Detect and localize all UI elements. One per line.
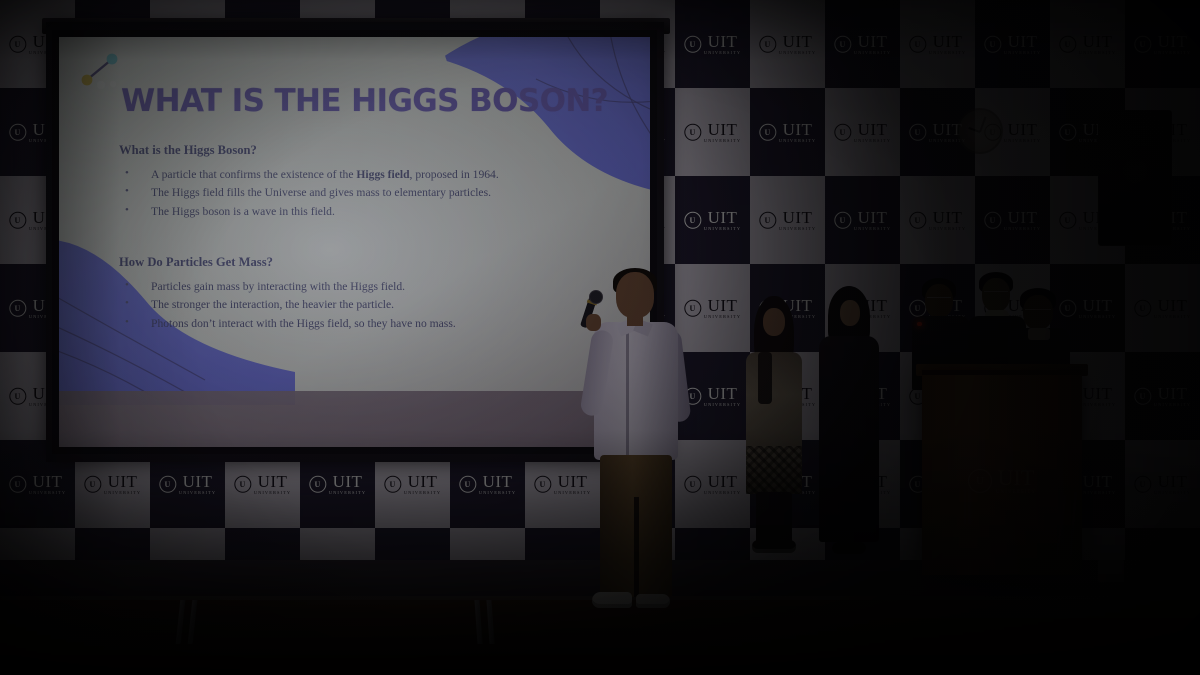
- backdrop-tile: UUITUNIVERSITY: [750, 0, 825, 88]
- backdrop-tile: UUITUNIVERSITY: [1125, 0, 1200, 88]
- uit-logo-subtext: UNIVERSITY: [1004, 51, 1041, 55]
- uit-logo-text: UIT: [1008, 33, 1038, 50]
- uit-logo-text: UIT: [1083, 473, 1113, 490]
- uit-logo: UUITUNIVERSITY: [759, 209, 816, 231]
- uit-logo: UUITUNIVERSITY: [159, 473, 216, 495]
- uit-logo-subtext: UNIVERSITY: [479, 491, 516, 495]
- backdrop-tile: UUITUNIVERSITY: [750, 176, 825, 264]
- slide-bottom-shadow-band: [59, 391, 650, 447]
- uit-logo: UUITUNIVERSITY: [759, 121, 816, 143]
- backdrop-tile: UUITUNIVERSITY: [825, 0, 900, 88]
- uit-logo-subtext: UNIVERSITY: [779, 139, 816, 143]
- uit-logo-text: UIT: [1158, 385, 1188, 402]
- bullet-text-pre: Particles gain mass by interacting with …: [151, 280, 405, 293]
- uit-circle-mark-icon: U: [9, 124, 26, 141]
- uit-circle-mark-icon: U: [968, 469, 992, 493]
- uit-logo: UUITUNIVERSITY: [984, 209, 1041, 231]
- uit-circle-mark-icon: U: [1134, 476, 1151, 493]
- uit-logo-subtext: UNIVERSITY: [1154, 403, 1191, 407]
- presentation-slide: WHAT IS THE HIGGS BOSON? What is the Hig…: [59, 37, 650, 447]
- slide-bullet-list: A particle that confirms the existence o…: [123, 166, 624, 221]
- uit-logo-subtext: UNIVERSITY: [329, 491, 366, 495]
- backdrop-tile: UUITUNIVERSITY: [975, 0, 1050, 88]
- equipment-led-indicator: [917, 322, 922, 326]
- uit-logo-subtext: UNIVERSITY: [104, 491, 141, 495]
- uit-circle-mark-icon: U: [834, 36, 851, 53]
- uit-circle-mark-icon: U: [1059, 124, 1076, 141]
- backdrop-tile: UUITUNIVERSITY: [900, 176, 975, 264]
- uit-logo-text: UIT: [1158, 33, 1188, 50]
- uit-logo: UUITUNIVERSITY: [234, 473, 291, 495]
- uit-logo-text: UIT: [783, 121, 813, 138]
- uit-circle-mark-icon: U: [1059, 36, 1076, 53]
- uit-logo-subtext: UNIVERSITY: [1154, 491, 1191, 495]
- uit-circle-mark-icon: U: [234, 476, 251, 493]
- uit-logo-text: UIT: [858, 209, 888, 226]
- slide-bullet: The Higgs boson is a wave in this field.: [123, 203, 624, 221]
- uit-circle-mark-icon: U: [384, 476, 401, 493]
- bullet-text-pre: Photons don’t interact with the Higgs fi…: [151, 317, 456, 330]
- uit-circle-mark-icon: U: [984, 212, 1001, 229]
- uit-circle-mark-icon: U: [1059, 212, 1076, 229]
- backdrop-tile: UUITUNIVERSITY: [1050, 0, 1125, 88]
- uit-logo-subtext: UNIVERSITY: [929, 227, 966, 231]
- uit-logo-text: UIT: [783, 33, 813, 50]
- uit-logo-subtext: UNIVERSITY: [779, 51, 816, 55]
- uit-logo: UUITUNIVERSITY: [684, 209, 741, 231]
- uit-logo-text: UIT: [408, 473, 438, 490]
- uit-logo-text: UIT: [1083, 33, 1113, 50]
- uit-logo-subtext: UNIVERSITY: [854, 139, 891, 143]
- backdrop-tile: UUITUNIVERSITY: [975, 176, 1050, 264]
- uit-logo-subtext: UNIVERSITY: [704, 491, 741, 495]
- uit-logo-text: UIT: [858, 121, 888, 138]
- uit-logo: UUITUNIVERSITY: [834, 209, 891, 231]
- uit-logo: UUITUNIVERSITY: [309, 473, 366, 495]
- uit-logo-subtext: UNIVERSITY: [1154, 315, 1191, 319]
- uit-logo-text: UIT: [33, 473, 63, 490]
- uit-logo-text: UIT: [1158, 297, 1188, 314]
- uit-logo: UUITUNIVERSITY: [684, 33, 741, 55]
- bullet-text-bold: Higgs field: [356, 168, 409, 181]
- uit-circle-mark-icon: U: [84, 476, 101, 493]
- slide-section-heading: What is the Higgs Boson?: [119, 143, 624, 158]
- uit-logo-subtext: UNIVERSITY: [179, 491, 216, 495]
- backdrop-tile: UUITUNIVERSITY: [675, 0, 750, 88]
- uit-circle-mark-icon: U: [759, 212, 776, 229]
- uit-circle-mark-icon: U: [909, 212, 926, 229]
- particle-link-icon: [79, 51, 125, 91]
- uit-circle-mark-icon: U: [834, 212, 851, 229]
- bullet-text-pre: A particle that confirms the existence o…: [151, 168, 356, 181]
- uit-logo-subtext: UNIVERSITY: [1079, 403, 1116, 407]
- microphone-capsule: [589, 290, 603, 304]
- backdrop-tile: UUITUNIVERSITY: [750, 88, 825, 176]
- uit-logo-subtext: UNIVERSITY: [1154, 51, 1191, 55]
- uit-logo-subtext: UNIVERSITY: [704, 227, 741, 231]
- uit-logo: UUITUNIVERSITY: [1134, 385, 1191, 407]
- backdrop-tile: UUITUNIVERSITY: [1125, 264, 1200, 352]
- uit-logo-subtext: UNIVERSITY: [704, 139, 741, 143]
- woman-in-embroidered-kurta: [742, 296, 806, 558]
- uit-logo: UUITUNIVERSITY: [1059, 33, 1116, 55]
- uit-circle-mark-icon: U: [1134, 388, 1151, 405]
- slide-body: What is the Higgs Boson? A particle that…: [119, 143, 624, 333]
- uit-logo-text: UIT: [258, 473, 288, 490]
- uit-logo-text: UIT: [708, 121, 738, 138]
- uit-logo-subtext: UNIVERSITY: [29, 491, 66, 495]
- uit-logo-subtext: UNIVERSITY: [704, 51, 741, 55]
- uit-logo-text: UIT: [108, 473, 138, 490]
- uit-circle-mark-icon: U: [9, 36, 26, 53]
- uit-logo: UUITUNIVERSITY: [9, 473, 66, 495]
- uit-logo: UUITUNIVERSITY: [834, 121, 891, 143]
- uit-circle-mark-icon: U: [834, 124, 851, 141]
- uit-circle-mark-icon: U: [459, 476, 476, 493]
- uit-logo: UUITUNIVERSITY: [684, 121, 741, 143]
- uit-logo-subtext: UNIVERSITY: [1079, 315, 1116, 319]
- slide-bullet: The stronger the interaction, the heavie…: [123, 296, 624, 314]
- presenter-with-microphone: [580, 272, 700, 624]
- bullet-text-pre: The Higgs field fills the Universe and g…: [151, 186, 491, 199]
- wall-clock: [957, 108, 1003, 154]
- uit-logo-text: UIT: [933, 209, 963, 226]
- uit-circle-mark-icon: U: [759, 36, 776, 53]
- bullet-text-pre: The stronger the interaction, the heavie…: [151, 298, 394, 311]
- uit-logo-subtext: UNIVERSITY: [1079, 491, 1116, 495]
- uit-circle-mark-icon: U: [759, 124, 776, 141]
- uit-circle-mark-icon: U: [909, 36, 926, 53]
- uit-circle-mark-icon: U: [909, 124, 926, 141]
- uit-logo-subtext: UNIVERSITY: [1004, 139, 1041, 143]
- uit-logo-subtext: UNIVERSITY: [854, 227, 891, 231]
- eyeglasses-icon: [1025, 309, 1051, 314]
- backdrop-tile: UUITUNIVERSITY: [675, 88, 750, 176]
- slide-bullet: The Higgs field fills the Universe and g…: [123, 184, 624, 202]
- podium-uit-logo: U UIT UNIVERSITY: [968, 467, 1036, 495]
- bullet-text-post: , proposed in 1964.: [410, 168, 499, 181]
- uit-logo: UUITUNIVERSITY: [834, 33, 891, 55]
- uit-logo: UUITUNIVERSITY: [1134, 297, 1191, 319]
- uit-circle-mark-icon: U: [984, 36, 1001, 53]
- uit-circle-mark-icon: U: [1134, 300, 1151, 317]
- uit-logo-subtext: UNIVERSITY: [779, 227, 816, 231]
- uit-logo: UUITUNIVERSITY: [909, 33, 966, 55]
- slide-bullet-list: Particles gain mass by interacting with …: [123, 278, 624, 333]
- eyeglasses-icon: [927, 297, 951, 302]
- uit-circle-mark-icon: U: [9, 212, 26, 229]
- podium-logo-text: UIT: [998, 467, 1035, 489]
- slide-bullet: Particles gain mass by interacting with …: [123, 278, 624, 296]
- uit-logo-subtext: UNIVERSITY: [254, 491, 291, 495]
- uit-logo-subtext: UNIVERSITY: [1079, 51, 1116, 55]
- backdrop-tile: UUITUNIVERSITY: [1125, 440, 1200, 528]
- slide-title: WHAT IS THE HIGGS BOSON?: [121, 83, 608, 119]
- uit-logo-text: UIT: [1083, 297, 1113, 314]
- uit-logo-subtext: UNIVERSITY: [929, 51, 966, 55]
- wall-mounted-loudspeaker: [1098, 110, 1172, 246]
- uit-logo: UUITUNIVERSITY: [759, 33, 816, 55]
- uit-logo-text: UIT: [333, 473, 363, 490]
- uit-circle-mark-icon: U: [9, 476, 26, 493]
- uit-logo: UUITUNIVERSITY: [84, 473, 141, 495]
- backdrop-tile: UUITUNIVERSITY: [825, 88, 900, 176]
- uit-logo-text: UIT: [1158, 473, 1188, 490]
- uit-logo: UUITUNIVERSITY: [1134, 473, 1191, 495]
- uit-logo: UUITUNIVERSITY: [384, 473, 441, 495]
- backdrop-tile: UUITUNIVERSITY: [675, 176, 750, 264]
- uit-logo-text: UIT: [708, 385, 738, 402]
- podium-logo-subtext: UNIVERSITY: [996, 490, 1036, 495]
- uit-logo-text: UIT: [708, 473, 738, 490]
- uit-logo-text: UIT: [708, 297, 738, 314]
- uit-logo-subtext: UNIVERSITY: [854, 51, 891, 55]
- uit-logo-text: UIT: [858, 33, 888, 50]
- uit-circle-mark-icon: U: [159, 476, 176, 493]
- uit-logo-subtext: UNIVERSITY: [404, 491, 441, 495]
- uit-logo: UUITUNIVERSITY: [459, 473, 516, 495]
- uit-circle-mark-icon: U: [534, 476, 551, 493]
- uit-logo-text: UIT: [483, 473, 513, 490]
- uit-circle-mark-icon: U: [9, 300, 26, 317]
- floor-power-box: [1098, 560, 1124, 582]
- uit-logo-text: UIT: [1083, 385, 1113, 402]
- backdrop-tile: UUITUNIVERSITY: [825, 176, 900, 264]
- slide-bullet: A particle that confirms the existence o…: [123, 166, 624, 184]
- uit-logo-text: UIT: [1008, 209, 1038, 226]
- uit-logo: UUITUNIVERSITY: [909, 209, 966, 231]
- projection-screen: WHAT IS THE HIGGS BOSON? What is the Hig…: [52, 30, 657, 454]
- uit-logo-subtext: UNIVERSITY: [704, 403, 741, 407]
- uit-logo: UUITUNIVERSITY: [984, 33, 1041, 55]
- uit-circle-mark-icon: U: [684, 212, 701, 229]
- uit-logo-text: UIT: [708, 33, 738, 50]
- speaker-cone-icon: [1123, 159, 1147, 183]
- backdrop-tile: UUITUNIVERSITY: [900, 0, 975, 88]
- uit-circle-mark-icon: U: [1134, 36, 1151, 53]
- uit-logo-text: UIT: [1008, 121, 1038, 138]
- uit-logo-subtext: UNIVERSITY: [704, 315, 741, 319]
- slide-bullet: Photons don’t interact with the Higgs fi…: [123, 315, 624, 333]
- screenshot-root: UUITUNIVERSITYUUITUNIVERSITYUUITUNIVERSI…: [0, 0, 1200, 675]
- slide-section-heading: How Do Particles Get Mass?: [119, 255, 624, 270]
- uit-logo-subtext: UNIVERSITY: [1004, 227, 1041, 231]
- backdrop-tile: UUITUNIVERSITY: [1125, 352, 1200, 440]
- uit-logo-text: UIT: [183, 473, 213, 490]
- uit-logo-text: UIT: [783, 209, 813, 226]
- uit-logo-text: UIT: [708, 209, 738, 226]
- uit-circle-mark-icon: U: [309, 476, 326, 493]
- uit-circle-mark-icon: U: [9, 388, 26, 405]
- uit-circle-mark-icon: U: [684, 124, 701, 141]
- eyeglasses-icon: [984, 291, 1008, 296]
- uit-logo-text: UIT: [933, 33, 963, 50]
- bullet-text-pre: The Higgs boson is a wave in this field.: [151, 205, 335, 218]
- uit-circle-mark-icon: U: [684, 36, 701, 53]
- woman-in-black-abaya: [818, 286, 880, 558]
- uit-logo: UUITUNIVERSITY: [1134, 33, 1191, 55]
